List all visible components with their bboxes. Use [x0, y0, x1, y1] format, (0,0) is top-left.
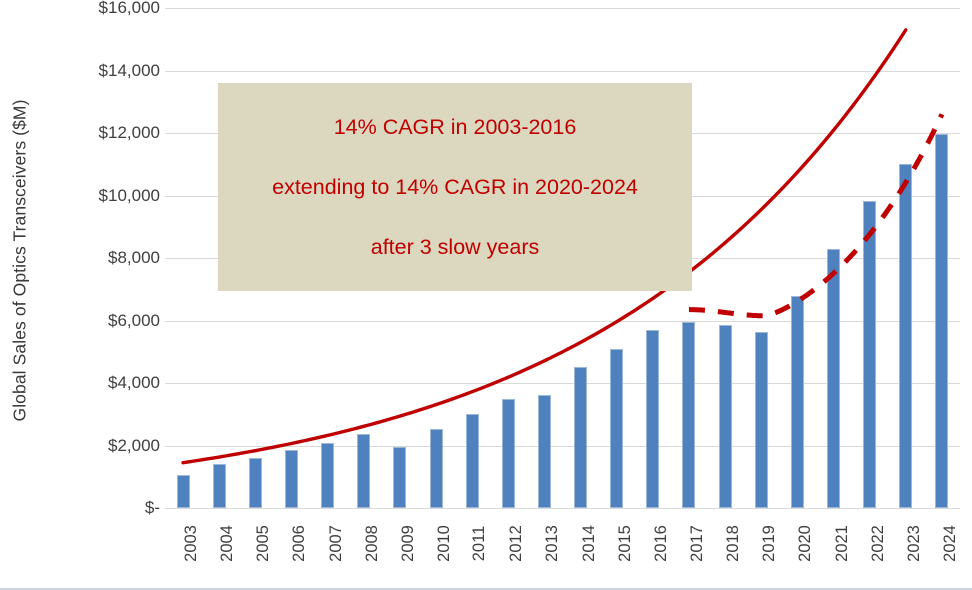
bar-2017: [682, 322, 695, 508]
x-axis-tick-2013: 2013: [534, 508, 554, 553]
x-axis-tick-2015: 2015: [607, 508, 627, 553]
x-axis-tick-2014: 2014: [571, 508, 591, 553]
bar-2010: [430, 429, 443, 508]
x-axis-tick-label: 2023: [905, 525, 924, 562]
y-axis-tick-3: $10,000: [50, 186, 160, 206]
annotation-line-2: extending to 14% CAGR in 2020-2024: [272, 175, 638, 200]
x-axis-tick-label: 2015: [616, 525, 635, 562]
x-axis-tick-label: 2011: [470, 526, 489, 561]
x-axis-tick-2011: 2011: [462, 508, 482, 553]
x-axis-tick-label: 2014: [579, 525, 598, 562]
x-axis-tick-label: 2020: [796, 525, 815, 562]
y-axis-tick-8: $-: [50, 498, 160, 518]
x-axis-tick-label: 2022: [869, 525, 888, 562]
y-axis-tick-6: $4,000: [50, 373, 160, 393]
x-axis-tick-label: 2012: [507, 525, 526, 562]
x-axis-tick-2018: 2018: [715, 508, 735, 553]
bar-2014: [574, 367, 587, 508]
x-axis-tick-label: 2017: [688, 525, 707, 562]
x-axis-tick-label: 2007: [326, 525, 345, 562]
x-axis-tick-2016: 2016: [643, 508, 663, 553]
x-axis-tick-label: 2006: [290, 525, 309, 562]
x-axis-tick-label: 2009: [399, 525, 418, 562]
x-axis-tick-2006: 2006: [281, 508, 301, 553]
y-axis-tick-0: $16,000: [50, 0, 160, 18]
y-axis-tick-4: $8,000: [50, 248, 160, 268]
bar-2008: [357, 434, 370, 508]
x-axis-tick-2017: 2017: [679, 508, 699, 553]
bar-2009: [393, 447, 406, 508]
bar-2005: [249, 458, 262, 508]
x-axis-tick-label: 2019: [760, 525, 779, 562]
x-axis-tick-2019: 2019: [751, 508, 771, 553]
x-axis-tick-label: 2010: [435, 525, 454, 562]
x-axis-tick-label: 2016: [652, 525, 671, 562]
x-axis-tick-label: 2005: [254, 525, 273, 562]
bar-2023: [899, 164, 912, 508]
x-axis-tick-2023: 2023: [896, 508, 916, 553]
x-axis-tick-2008: 2008: [354, 508, 374, 553]
annotation-line-1: 14% CAGR in 2003-2016: [334, 115, 577, 140]
x-axis-tick-2003: 2003: [173, 508, 193, 553]
bar-2020: [791, 296, 804, 508]
bar-2021: [827, 249, 840, 508]
y-axis-tick-7: $2,000: [50, 436, 160, 456]
y-axis-title: Global Sales of Optics Transceivers ($M): [0, 0, 40, 520]
x-axis-tick-label: 2008: [363, 525, 382, 562]
chart-container: Global Sales of Optics Transceivers ($M)…: [0, 0, 972, 590]
x-axis-tick-2020: 2020: [787, 508, 807, 553]
x-axis-tick-2024: 2024: [932, 508, 952, 553]
bar-2016: [646, 330, 659, 508]
y-axis-tick-5: $6,000: [50, 311, 160, 331]
x-axis-tick-labels: 2003200420052006200720082009201020112012…: [165, 508, 960, 588]
y-axis-title-label: Global Sales of Optics Transceivers ($M): [10, 99, 31, 421]
y-axis-tick-labels: $16,000$14,000$12,000$10,000$8,000$6,000…: [35, 0, 160, 590]
bar-2004: [213, 464, 226, 508]
x-axis-tick-label: 2021: [832, 525, 851, 562]
y-axis-tick-2: $12,000: [50, 123, 160, 143]
bar-2022: [863, 201, 876, 508]
x-axis-tick-label: 2024: [941, 525, 960, 562]
bar-2003: [177, 475, 190, 508]
x-axis-tick-2021: 2021: [824, 508, 844, 553]
x-axis-tick-label: 2018: [724, 525, 743, 562]
x-axis-tick-2004: 2004: [209, 508, 229, 553]
x-axis-tick-label: 2004: [218, 525, 237, 562]
bar-2019: [755, 332, 768, 508]
y-axis-tick-1: $14,000: [50, 61, 160, 81]
bar-2011: [466, 414, 479, 508]
x-axis-tick-label: 2003: [182, 525, 201, 562]
x-axis-tick-2010: 2010: [426, 508, 446, 553]
x-axis-tick-2012: 2012: [498, 508, 518, 553]
x-axis-tick-2007: 2007: [318, 508, 338, 553]
annotation-callout-box: 14% CAGR in 2003-2016 extending to 14% C…: [218, 83, 692, 291]
x-axis-tick-2022: 2022: [860, 508, 880, 553]
annotation-line-3: after 3 slow years: [371, 235, 539, 260]
bar-2006: [285, 450, 298, 508]
bar-2024: [935, 134, 948, 508]
x-axis-tick-label: 2013: [543, 525, 562, 562]
bar-2012: [502, 399, 515, 508]
x-axis-tick-2009: 2009: [390, 508, 410, 553]
bar-2007: [321, 443, 334, 508]
bar-2015: [610, 349, 623, 508]
bar-2018: [719, 325, 732, 508]
bar-2013: [538, 395, 551, 508]
x-axis-tick-2005: 2005: [245, 508, 265, 553]
